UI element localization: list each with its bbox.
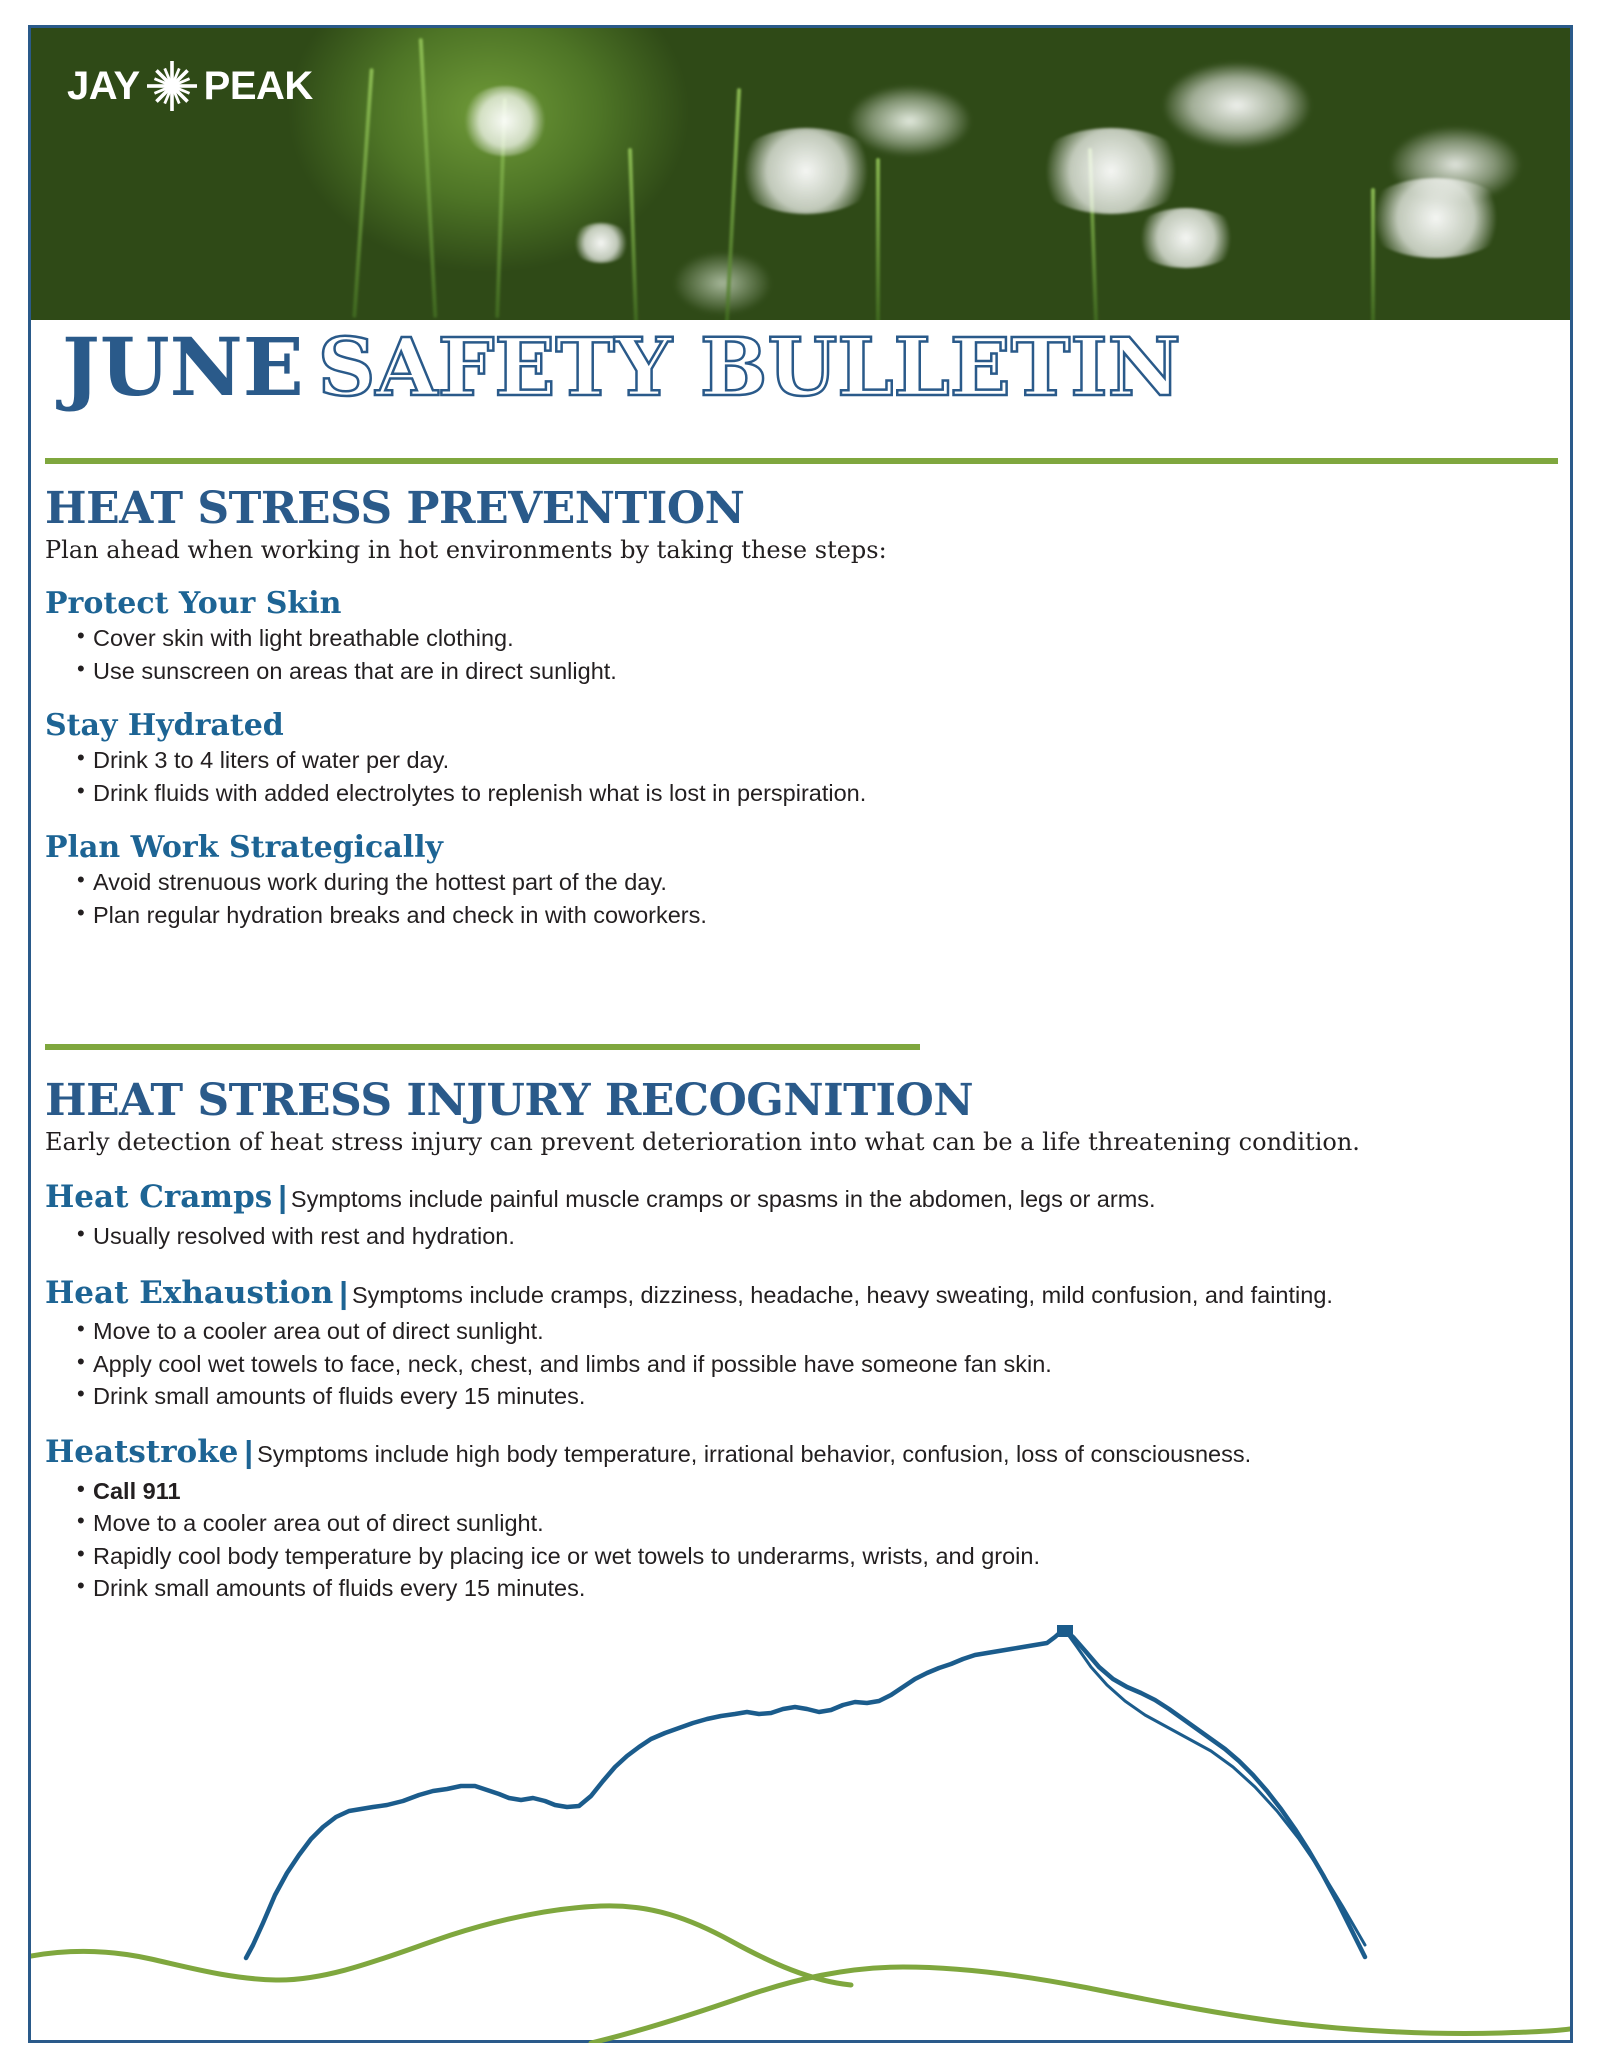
section-heat-stress-prevention: HEAT STRESS PREVENTION Plan ahead when w…	[45, 486, 1545, 931]
list-item: Drink fluids with added electrolytes to …	[77, 777, 1545, 809]
logo-text-peak: PEAK	[204, 66, 313, 106]
list-item: Plan regular hydration breaks and check …	[77, 899, 1545, 931]
injury-name: Heat Exhaustion	[45, 1275, 333, 1311]
subsection-protect-your-skin-list: Cover skin with light breathable clothin…	[45, 622, 1545, 687]
list-item: Usually resolved with rest and hydration…	[77, 1220, 1545, 1252]
bulletin-page: JAY PEAK JUNESAFETY BULLETIN	[0, 0, 1600, 2071]
injury-separator: |	[333, 1275, 352, 1310]
injury-separator: |	[272, 1179, 291, 1214]
injury-description: Symptoms include high body temperature, …	[257, 1441, 1251, 1467]
section-1-lede: Plan ahead when working in hot environme…	[45, 536, 1545, 565]
divider-top	[45, 458, 1558, 464]
list-item-call-911: Call 911	[77, 1475, 1545, 1507]
injury-heat-exhaustion-headline: Heat Exhaustion|Symptoms include cramps,…	[45, 1275, 1545, 1312]
section-2-heading: HEAT STRESS INJURY RECOGNITION	[45, 1078, 1545, 1124]
list-item: Rapidly cool body temperature by placing…	[77, 1540, 1545, 1572]
divider-middle	[45, 1044, 920, 1050]
list-item: Cover skin with light breathable clothin…	[77, 622, 1545, 654]
section-2-lede: Early detection of heat stress injury ca…	[45, 1128, 1435, 1157]
list-item: Use sunscreen on areas that are in direc…	[77, 655, 1545, 687]
injury-name: Heatstroke	[45, 1434, 238, 1470]
injury-name: Heat Cramps	[45, 1179, 272, 1215]
subsection-stay-hydrated-list: Drink 3 to 4 liters of water per day. Dr…	[45, 744, 1545, 809]
injury-heat-exhaustion-list: Move to a cooler area out of direct sunl…	[45, 1315, 1545, 1412]
subsection-plan-work-strategically-heading: Plan Work Strategically	[45, 831, 1545, 864]
list-item: Drink small amounts of fluids every 15 m…	[77, 1380, 1545, 1412]
injury-heat-exhaustion: Heat Exhaustion|Symptoms include cramps,…	[45, 1275, 1545, 1413]
list-item: Avoid strenuous work during the hottest …	[77, 866, 1545, 898]
injury-heatstroke-list: Call 911 Move to a cooler area out of di…	[45, 1475, 1545, 1605]
title-month: JUNE	[62, 320, 304, 414]
injury-description: Symptoms include painful muscle cramps o…	[291, 1186, 1156, 1212]
jay-peak-logo: JAY PEAK	[67, 60, 313, 112]
subsection-plan-work-strategically-list: Avoid strenuous work during the hottest …	[45, 866, 1545, 931]
list-item: Apply cool wet towels to face, neck, che…	[77, 1348, 1545, 1380]
subsection-protect-your-skin-heading: Protect Your Skin	[45, 587, 1545, 620]
injury-heatstroke: Heatstroke|Symptoms include high body te…	[45, 1434, 1545, 1604]
injury-heat-cramps-headline: Heat Cramps|Symptoms include painful mus…	[45, 1179, 1545, 1216]
list-item: Drink 3 to 4 liters of water per day.	[77, 744, 1545, 776]
section-heat-stress-injury-recognition: HEAT STRESS INJURY RECOGNITION Early det…	[45, 1078, 1545, 1605]
list-item: Move to a cooler area out of direct sunl…	[77, 1507, 1545, 1539]
injury-description: Symptoms include cramps, dizziness, head…	[352, 1282, 1333, 1308]
title-rest: SAFETY BULLETIN	[318, 320, 1181, 414]
list-item: Move to a cooler area out of direct sunl…	[77, 1315, 1545, 1347]
page-title: JUNESAFETY BULLETIN	[62, 327, 1542, 407]
injury-heat-cramps-list: Usually resolved with rest and hydration…	[45, 1220, 1545, 1252]
injury-heatstroke-headline: Heatstroke|Symptoms include high body te…	[45, 1434, 1545, 1471]
list-item: Drink small amounts of fluids every 15 m…	[77, 1572, 1545, 1604]
snowflake-icon	[146, 60, 198, 112]
injury-heat-cramps: Heat Cramps|Symptoms include painful mus…	[45, 1179, 1545, 1252]
subsection-stay-hydrated-heading: Stay Hydrated	[45, 709, 1545, 742]
section-1-heading: HEAT STRESS PREVENTION	[45, 486, 1545, 532]
logo-text-jay: JAY	[67, 66, 140, 106]
injury-separator: |	[238, 1434, 257, 1469]
